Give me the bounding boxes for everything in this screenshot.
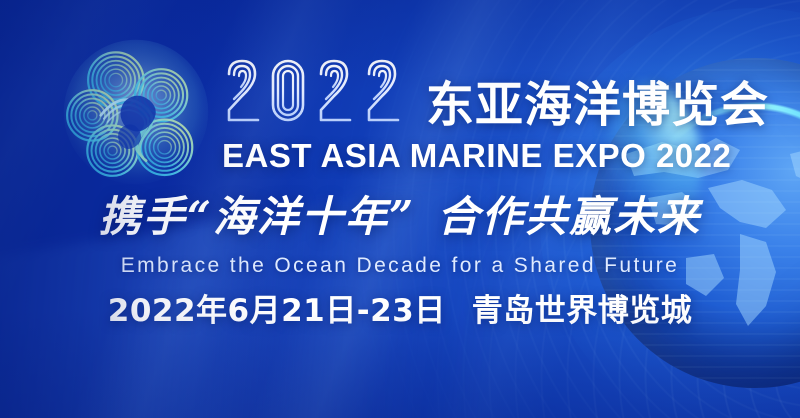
expo-banner: 东亚海洋博览会 EAST ASIA MARINE EXPO 2022 携手“海洋…: [0, 0, 800, 418]
edge-vignette: [0, 0, 800, 418]
